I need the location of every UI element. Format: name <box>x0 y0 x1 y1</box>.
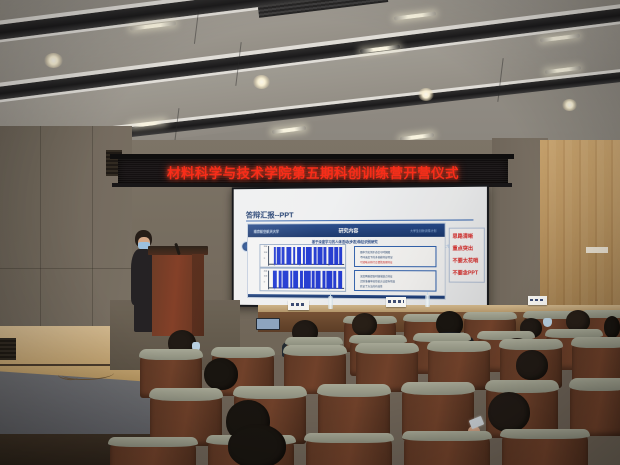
downlight <box>253 75 270 89</box>
plot-ytick: 100 <box>264 252 268 254</box>
inner-slide: 南京航空航天大学 研究内容 大学生创新训练计划 基于深度学习的人体活动(步态)特… <box>247 223 446 299</box>
lecture-hall-photo: 材料科学与技术学院第五期科创训练营开营仪式 南京航空航天大学 如何开展大创 大学… <box>0 0 620 465</box>
tip-item: 不要太花哨 <box>453 257 479 264</box>
seat[interactable] <box>570 382 620 436</box>
note-line: 识别准确率较传统方法提升明显 <box>360 279 430 283</box>
plot-xtick: 2 <box>299 265 300 267</box>
note-line: 图中为实测步态信号时频图 <box>360 250 430 254</box>
plot-xtick: 4 <box>328 289 329 291</box>
note-box-top: 图中为实测步态信号时频图 不同速度下的多普勒特征明显 可清晰分辨行走摆臂周期特征 <box>354 246 436 267</box>
audience-head <box>204 358 238 390</box>
led-frame-top <box>110 154 514 159</box>
seat[interactable] <box>306 436 392 465</box>
inner-header-tag: 大学生创新训练计划 <box>410 228 436 232</box>
plot-ytick: 200 <box>264 246 268 248</box>
inner-slide-footer <box>248 294 445 298</box>
water-bottle <box>328 296 333 309</box>
tip-item: 不要念PPT <box>453 269 478 276</box>
podium-side <box>192 254 204 336</box>
plot-xtick: 0 <box>274 288 275 290</box>
presenter-legs <box>134 298 153 332</box>
plot-ytick: 0 <box>264 281 265 283</box>
plot-ytick: 200 <box>264 270 268 272</box>
downlight <box>418 88 434 101</box>
plot-xtick: 2 <box>299 289 300 291</box>
tip-item: 重点突出 <box>453 245 474 252</box>
slide-title: 答辩汇报--PPT <box>246 209 294 220</box>
audience-head <box>488 392 530 432</box>
name-card <box>528 296 547 305</box>
seat[interactable] <box>404 434 490 465</box>
presentation-slide: 南京航空航天大学 如何开展大创 大学生创新训练计划 答辩汇报--PPT 南京航空… <box>234 187 487 308</box>
exit-sign <box>586 247 608 253</box>
plot-ytick: 100 <box>264 276 268 278</box>
tip-item: 思路清晰 <box>453 232 474 239</box>
name-card <box>288 300 309 310</box>
audience-head <box>604 316 620 338</box>
plot-ytick: 0 <box>264 258 265 260</box>
laptop <box>256 318 280 330</box>
floor-speaker <box>0 338 16 360</box>
downlight <box>562 99 577 111</box>
plot-xtick: 4 <box>328 265 329 267</box>
slide-header: 南京航空航天大学 如何开展大创 大学生创新训练计划 <box>234 187 487 207</box>
note-line: 可清晰分辨行走摆臂周期特征 <box>360 260 430 264</box>
led-banner: 材料科学与技术学院第五期科创训练营开营仪式 <box>118 158 508 184</box>
audience-head <box>516 350 548 380</box>
spectrogram-plot-top: 200 100 0 0 2 4 <box>259 244 346 268</box>
note-box-bottom: 深度网络提取时频域联合特征 识别准确率较传统方法提升明显 验证了方法的有效性 <box>354 270 436 292</box>
led-banner-text: 材料科学与技术学院第五期科创训练营开营仪式 <box>118 162 508 182</box>
spectrogram-plot-bottom: 200 100 0 0 2 4 <box>259 268 346 292</box>
projection-screen: 南京航空航天大学 如何开展大创 大学生创新训练计划 答辩汇报--PPT 南京航空… <box>232 185 489 310</box>
audience-head <box>228 424 286 465</box>
name-card <box>386 297 406 307</box>
seat[interactable] <box>502 432 588 465</box>
audience-head <box>352 313 377 336</box>
podium <box>152 252 204 336</box>
plot-xtick: 0 <box>274 265 275 267</box>
inner-logo-text: 南京航空航天大学 <box>254 228 279 233</box>
note-line: 验证了方法的有效性 <box>360 284 430 289</box>
plot-waveform <box>272 247 344 265</box>
seat[interactable] <box>110 440 196 465</box>
inner-header-title: 研究内容 <box>339 227 359 234</box>
tips-box: 思路清晰 重点突出 不要太花哨 不要念PPT <box>449 228 485 283</box>
face-mask <box>543 318 552 327</box>
note-line: 不同速度下的多普勒特征明显 <box>360 255 430 259</box>
strip-light <box>272 126 306 134</box>
note-line: 深度网络提取时频域联合特征 <box>360 274 430 278</box>
inner-slide-header: 南京航空航天大学 研究内容 大学生创新训练计划 <box>248 224 445 237</box>
water-bottle <box>425 295 430 307</box>
downlight <box>44 53 63 68</box>
plot-waveform <box>272 271 344 290</box>
